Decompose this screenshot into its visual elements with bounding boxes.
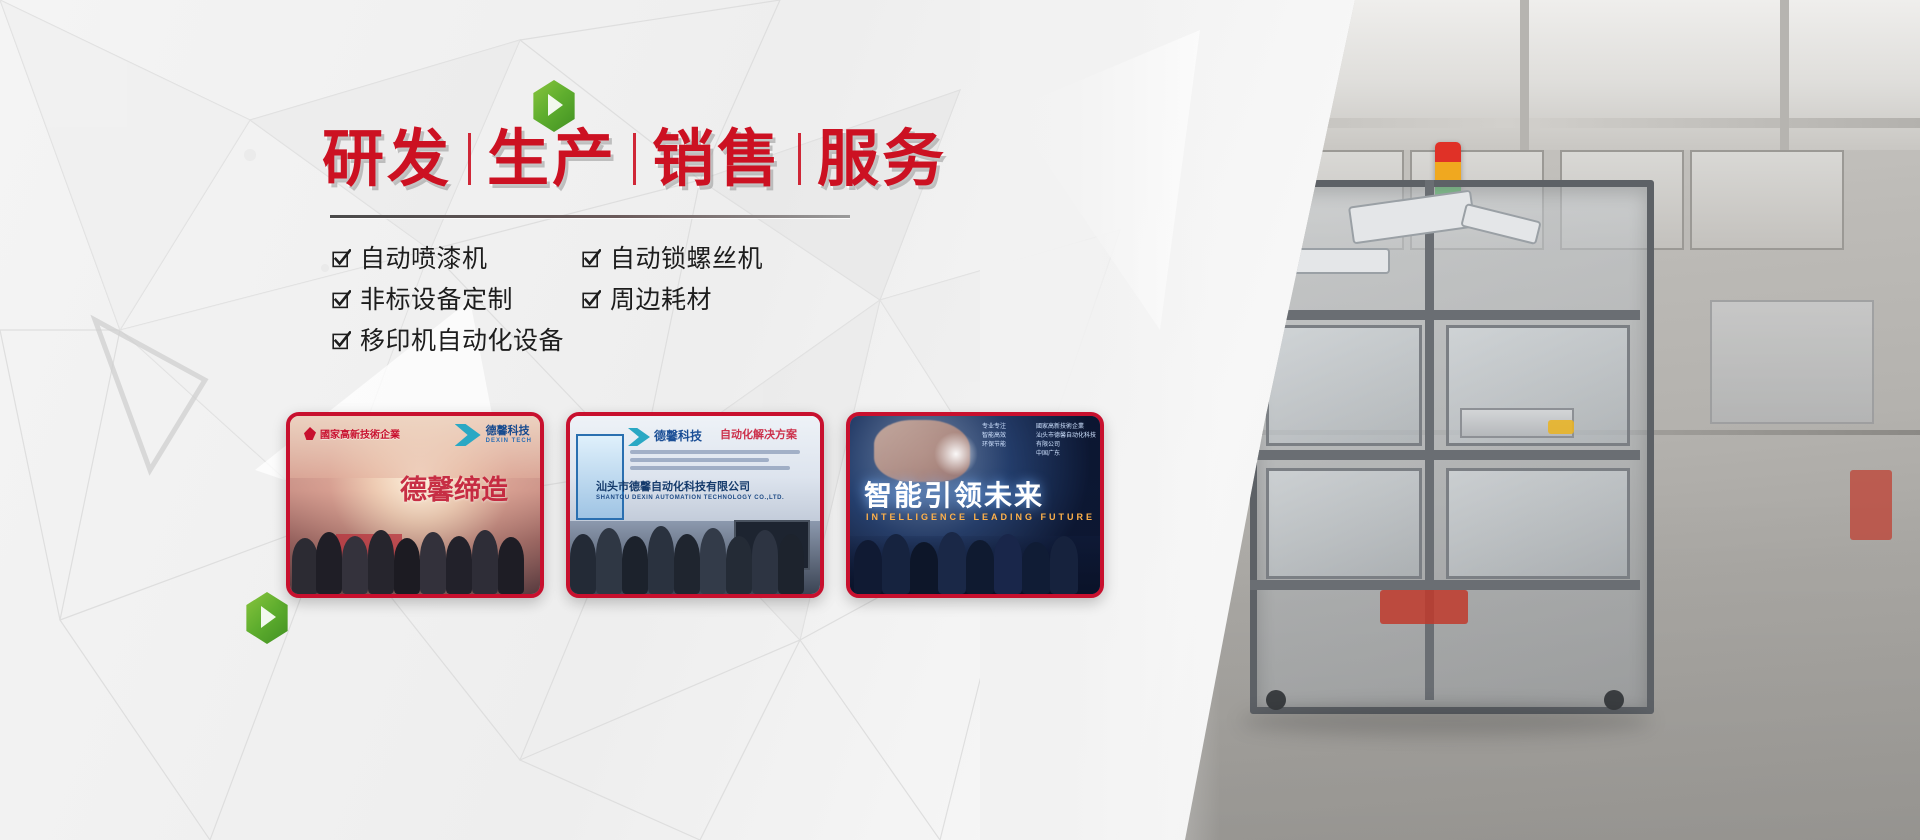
- feature-label: 自动锁螺丝机: [610, 246, 763, 271]
- headline-divider: [330, 215, 850, 218]
- card-title-cn: 智能引领未来: [864, 474, 1044, 514]
- feature-label: 非标设备定制: [360, 287, 513, 312]
- feature-item-consumables: 周边耗材: [582, 279, 832, 320]
- headline-separator: [798, 133, 801, 185]
- headline-word-production: 生产: [487, 128, 617, 190]
- booth-subtitle: 自动化解决方案: [720, 426, 797, 442]
- booth-title: 德馨科技: [654, 427, 702, 444]
- feature-item-custom-equipment: 非标设备定制: [332, 279, 582, 320]
- headline-word-rd: 研发: [322, 128, 452, 190]
- card-tags-left: 专业专注 智能高效 环保节能: [982, 423, 1006, 450]
- checkbox-checked-icon: [582, 290, 601, 309]
- headline-word-sales: 销售: [652, 128, 782, 190]
- page-title: 研发 生产 销售 服务: [322, 128, 947, 190]
- headline-separator: [633, 133, 636, 185]
- feature-item-pad-printing: 移印机自动化设备: [332, 320, 582, 361]
- award-badge: 國家高新技術企業: [304, 426, 400, 441]
- feature-label: 周边耗材: [610, 287, 712, 312]
- checkbox-checked-icon: [332, 290, 351, 309]
- company-name-cn: 汕头市德馨自动化科技有限公司: [596, 478, 750, 494]
- card-tags-right: 國家高新技術企業 汕头市德馨自动化科技有限公司 中国广东: [1036, 423, 1100, 459]
- photo-card-exhibition-booth[interactable]: 德馨科技 自动化解决方案 汕头市德馨自动化科技有限公司 SHANTOU DEXI…: [566, 412, 824, 598]
- headline-word-service: 服务: [817, 128, 947, 190]
- feature-label: 自动喷漆机: [360, 246, 488, 271]
- brand-logo: 德馨科技 DEXIN TECH: [455, 424, 532, 446]
- hexagon-play-icon-bottom: [243, 592, 291, 644]
- people-silhouettes: [290, 520, 540, 594]
- photo-card-award-ceremony[interactable]: 國家高新技術企業 德馨科技 DEXIN TECH 德馨缔造: [286, 412, 544, 598]
- award-label: 國家高新技術企業: [320, 426, 400, 441]
- checkbox-checked-icon: [332, 331, 351, 350]
- flame-icon: [304, 427, 316, 440]
- feature-item-auto-spray: 自动喷漆机: [332, 238, 582, 279]
- hero-banner: 研发 生产 销售 服务 自动喷漆机 自动锁螺丝: [0, 0, 1920, 840]
- people-silhouettes: [570, 520, 820, 594]
- feature-label: 移印机自动化设备: [360, 328, 564, 353]
- photo-card-intelligent-future[interactable]: 专业专注 智能高效 环保节能 國家高新技術企業 汕头市德馨自动化科技有限公司 中…: [846, 412, 1104, 598]
- dexin-x-icon: [455, 424, 481, 446]
- checkbox-checked-icon: [582, 249, 601, 268]
- checkbox-checked-icon: [332, 249, 351, 268]
- card-script-text: 德馨缔造: [400, 468, 508, 507]
- people-silhouettes: [850, 520, 1100, 594]
- brand-name-en: DEXIN TECH: [486, 438, 532, 444]
- feature-list: 自动喷漆机 自动锁螺丝机 非标设备定制: [332, 238, 852, 361]
- headline-separator: [468, 133, 471, 185]
- photo-card-gallery: 國家高新技術企業 德馨科技 DEXIN TECH 德馨缔造: [286, 412, 1104, 598]
- company-name-en: SHANTOU DEXIN AUTOMATION TECHNOLOGY CO.,…: [596, 495, 784, 501]
- feature-item-auto-screw: 自动锁螺丝机: [582, 238, 832, 279]
- brand-name-cn: 德馨科技: [486, 425, 530, 437]
